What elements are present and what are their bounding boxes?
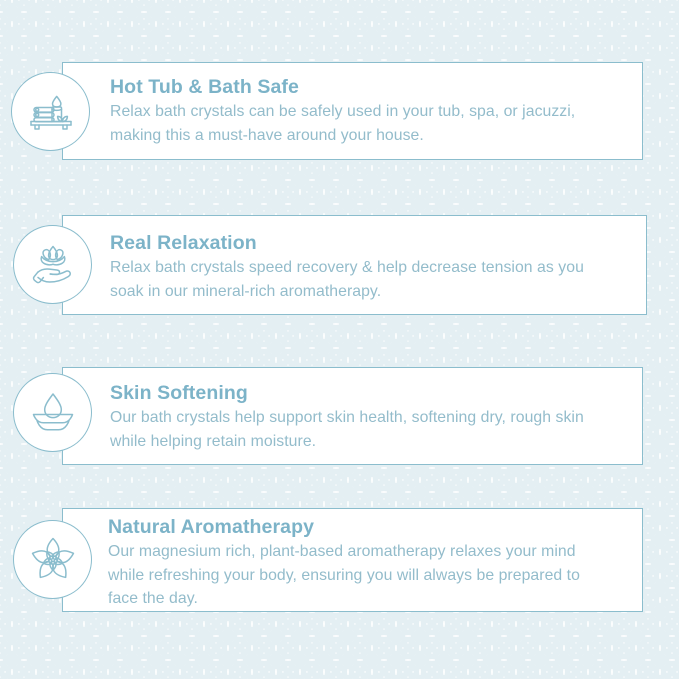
feature-description: Relax bath crystals can be safely used i…	[110, 100, 580, 147]
feature-text: Hot Tub & Bath Safe Relax bath crystals …	[110, 75, 580, 147]
feature-text: Natural Aromatherapy Our magnesium rich,…	[108, 515, 608, 611]
hand-holding-lotus-icon	[13, 225, 92, 304]
feature-text: Real Relaxation Relax bath crystals spee…	[110, 231, 610, 303]
water-droplet-in-bowl-icon	[13, 373, 92, 452]
feature-list: Hot Tub & Bath Safe Relax bath crystals …	[0, 0, 679, 679]
feature-text: Skin Softening Our bath crystals help su…	[110, 381, 590, 453]
feature-description: Relax bath crystals speed recovery & hel…	[110, 256, 610, 303]
five-petal-flower-icon	[13, 520, 92, 599]
candle-and-towels-icon	[11, 72, 90, 151]
feature-title: Natural Aromatherapy	[108, 515, 608, 539]
feature-description: Our bath crystals help support skin heal…	[110, 406, 590, 453]
feature-title: Skin Softening	[110, 381, 590, 405]
feature-title: Hot Tub & Bath Safe	[110, 75, 580, 99]
feature-title: Real Relaxation	[110, 231, 610, 255]
feature-description: Our magnesium rich, plant-based aromathe…	[108, 540, 608, 611]
